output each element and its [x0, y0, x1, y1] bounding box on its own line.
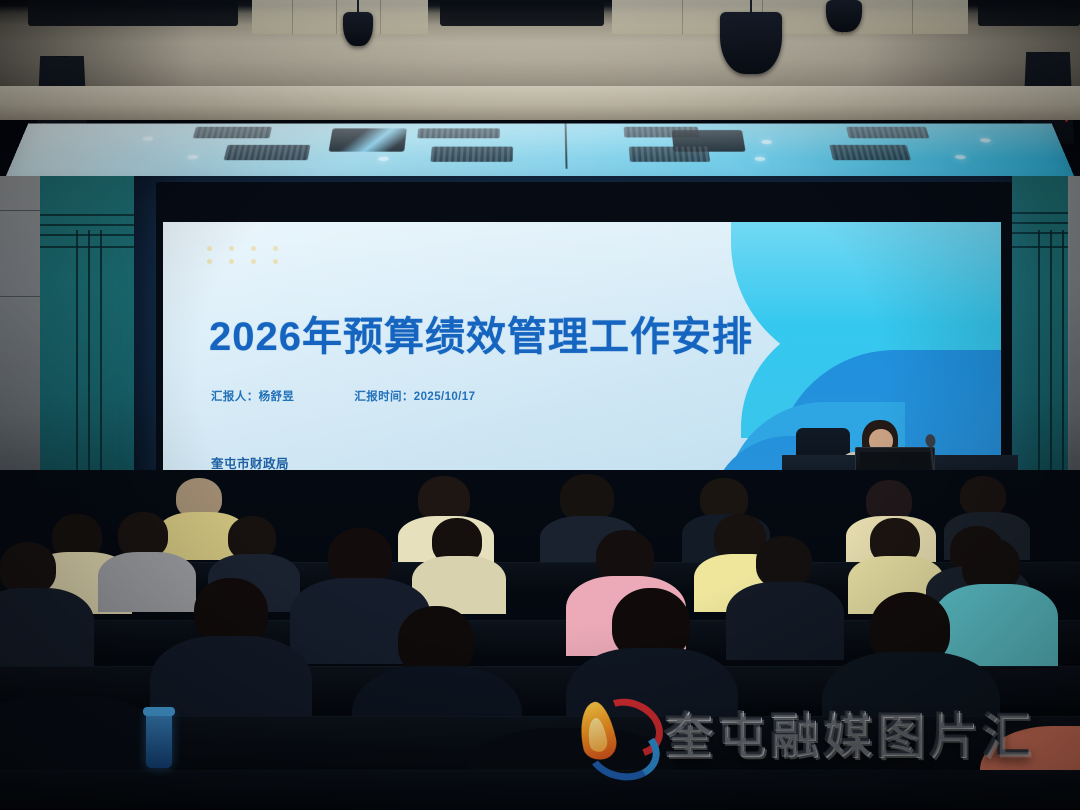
ceiling-vent — [430, 147, 512, 162]
audience-shoulders — [0, 588, 94, 670]
ceiling-vent — [417, 128, 500, 138]
ceiling-slot — [440, 0, 604, 26]
ceiling-slot — [28, 0, 238, 26]
slide-presenter-label: 汇报人：杨舒昱 — [211, 388, 294, 404]
ceiling-dark-panel — [671, 130, 745, 152]
watermark: 奎屯融媒图片汇 — [566, 696, 1035, 768]
ceiling-vent — [629, 147, 710, 162]
slide-time-label: 汇报时间：2025/10/17 — [354, 388, 475, 404]
audience-head — [0, 542, 56, 594]
watermark-text: 奎屯融媒图片汇 — [664, 697, 1035, 768]
hanging-speaker — [335, 0, 381, 56]
ceiling-downlight — [954, 155, 966, 159]
audience-head — [960, 476, 1006, 516]
ceiling-cable — [565, 124, 568, 169]
audience-shoulders — [98, 552, 196, 612]
ceiling-downlight — [754, 157, 765, 161]
ceiling-slot — [978, 0, 1080, 26]
ceiling-downlight — [378, 157, 389, 161]
audience-shoulders — [934, 584, 1058, 666]
ceiling-downlight — [142, 137, 154, 141]
water-cup — [146, 712, 172, 768]
ceiling-dark-panel — [329, 128, 407, 151]
ceiling-soffit-band — [0, 86, 1080, 120]
ceiling-vent — [224, 145, 311, 160]
audience-shoulders — [726, 582, 844, 660]
audience-head — [756, 536, 812, 588]
flame-swirl-logo-icon — [566, 696, 652, 768]
ceiling-vent — [829, 145, 911, 160]
ceiling-vent — [624, 127, 700, 138]
hanging-speaker — [716, 0, 786, 74]
photo-canvas: 2026年预算绩效管理工作安排 汇报人：杨舒昱 汇报时间：2025/10/17 … — [0, 0, 1080, 810]
slide-meta-row: 汇报人：杨舒昱 汇报时间：2025/10/17 — [211, 388, 475, 404]
ceiling-downlight — [761, 140, 772, 144]
ceiling-vent — [846, 127, 929, 138]
ceiling-downlight — [979, 138, 991, 142]
ceiling-vent — [193, 127, 272, 138]
ceiling-downlight — [187, 155, 199, 159]
seat-row — [0, 770, 1080, 810]
hanging-speaker — [824, 0, 864, 40]
ceiling-light-panel — [612, 0, 968, 34]
audience-head — [560, 474, 614, 522]
slide-decor-dots — [207, 246, 295, 272]
slide-title: 2026年预算绩效管理工作安排 — [209, 304, 753, 362]
